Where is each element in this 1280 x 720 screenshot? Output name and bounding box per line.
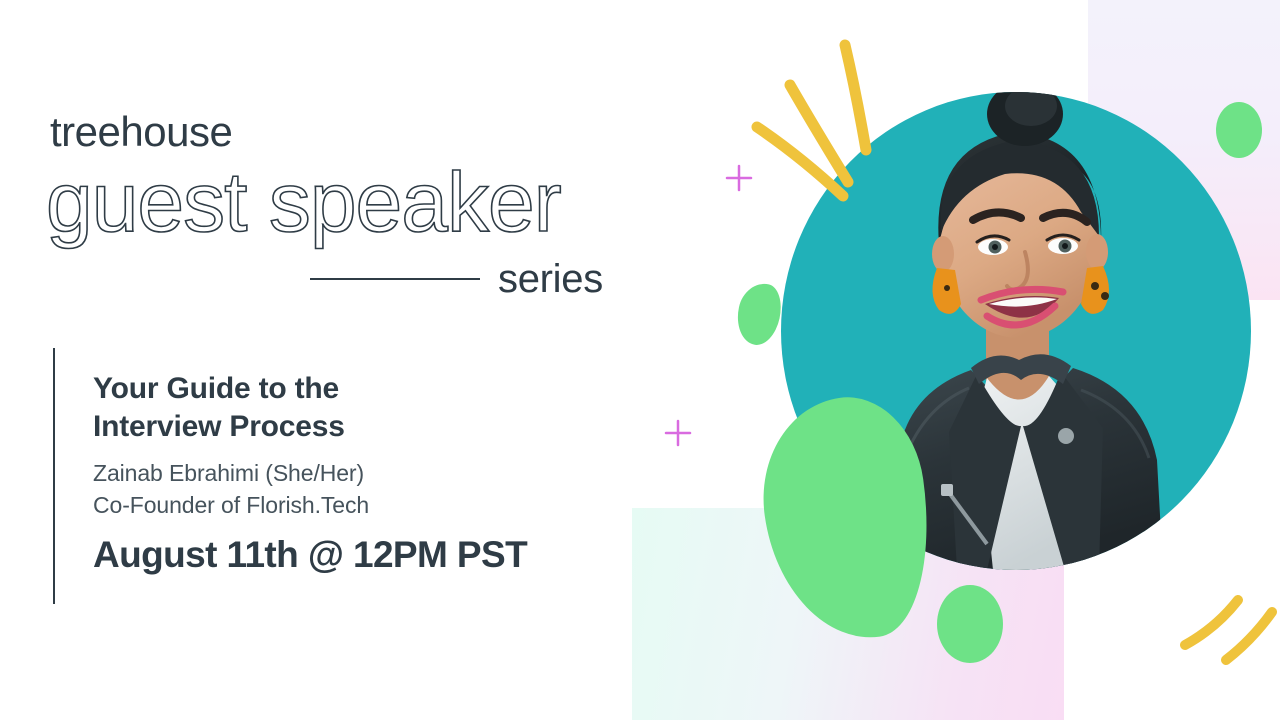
pink-plus-mark-lower	[666, 421, 690, 445]
green-blob-shape-small	[937, 585, 1003, 663]
event-datetime: August 11th @ 12PM PST	[93, 534, 527, 576]
speaker-name: Zainab Ebrahimi (She/Her)	[93, 460, 364, 487]
green-blob-shape-left	[732, 279, 786, 348]
talk-details-block: Your Guide to the Interview Process Zain…	[53, 348, 613, 604]
speaker-role: Co-Founder of Florish.Tech	[93, 492, 369, 519]
talk-title-line-1: Your Guide to the	[93, 370, 573, 408]
talk-title: Your Guide to the Interview Process	[93, 370, 573, 447]
yellow-curve-strokes	[1185, 600, 1272, 660]
text-content-column: treehouse guest speaker series Your Guid…	[0, 0, 660, 720]
talk-title-line-2: Interview Process	[93, 408, 573, 446]
page-title-outline: guest speaker	[46, 160, 561, 244]
vertical-accent-rule	[53, 348, 55, 604]
series-label-row: series	[310, 255, 630, 303]
pink-plus-mark-upper	[727, 166, 751, 190]
brand-wordmark: treehouse	[50, 108, 232, 156]
series-label: series	[498, 257, 603, 302]
series-divider-rule	[310, 278, 480, 280]
slide-canvas: treehouse guest speaker series Your Guid…	[0, 0, 1280, 720]
